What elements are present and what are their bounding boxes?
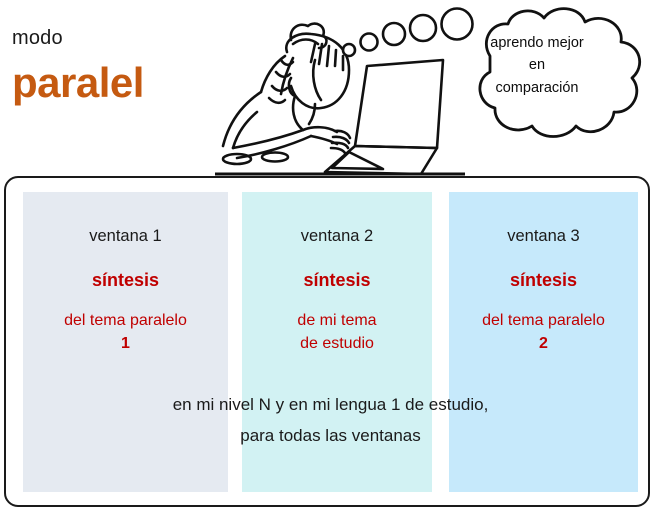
thought-line-1: aprendo mejor (462, 32, 612, 54)
board-caption-line-2: para todas las ventanas (23, 421, 638, 452)
window-label-3: ventana 3 (449, 228, 638, 245)
synthesis-title-1: síntesis (23, 271, 228, 289)
mode-kicker: modo (12, 28, 242, 48)
synthesis-desc-line2-col2: de estudio (300, 335, 374, 352)
synthesis-description-1: del tema paralelo 1 (23, 309, 228, 355)
synthesis-desc-line2-col1: 1 (121, 335, 130, 352)
synthesis-title-2: síntesis (242, 271, 432, 289)
board-caption: en mi nivel N y en mi lengua 1 de estudi… (23, 390, 638, 451)
window-label-2: ventana 2 (242, 228, 432, 245)
synthesis-desc-line1-col1: del tema paralelo (64, 312, 187, 329)
thought-line-2: en (462, 54, 612, 76)
synthesis-description-2: de mi tema de estudio (242, 309, 432, 355)
synthesis-desc-line1-col3: del tema paralelo (482, 312, 605, 329)
thought-bubble-text: aprendo mejor en comparación (462, 32, 612, 99)
synthesis-desc-line1-col2: de mi tema (297, 312, 376, 329)
board-caption-line-1: en mi nivel N y en mi lengua 1 de estudi… (23, 390, 638, 421)
synthesis-desc-line2-col3: 2 (539, 335, 548, 352)
synthesis-description-3: del tema paralelo 2 (449, 309, 638, 355)
header-block: modo paralel (12, 28, 242, 104)
slide-canvas: modo paralel (0, 0, 657, 512)
mode-title: paralel (12, 62, 242, 104)
windows-board: ventana 1 síntesis del tema paralelo 1 v… (4, 176, 650, 507)
synthesis-title-3: síntesis (449, 271, 638, 289)
thought-line-3: comparación (462, 77, 612, 99)
window-label-1: ventana 1 (23, 228, 228, 245)
